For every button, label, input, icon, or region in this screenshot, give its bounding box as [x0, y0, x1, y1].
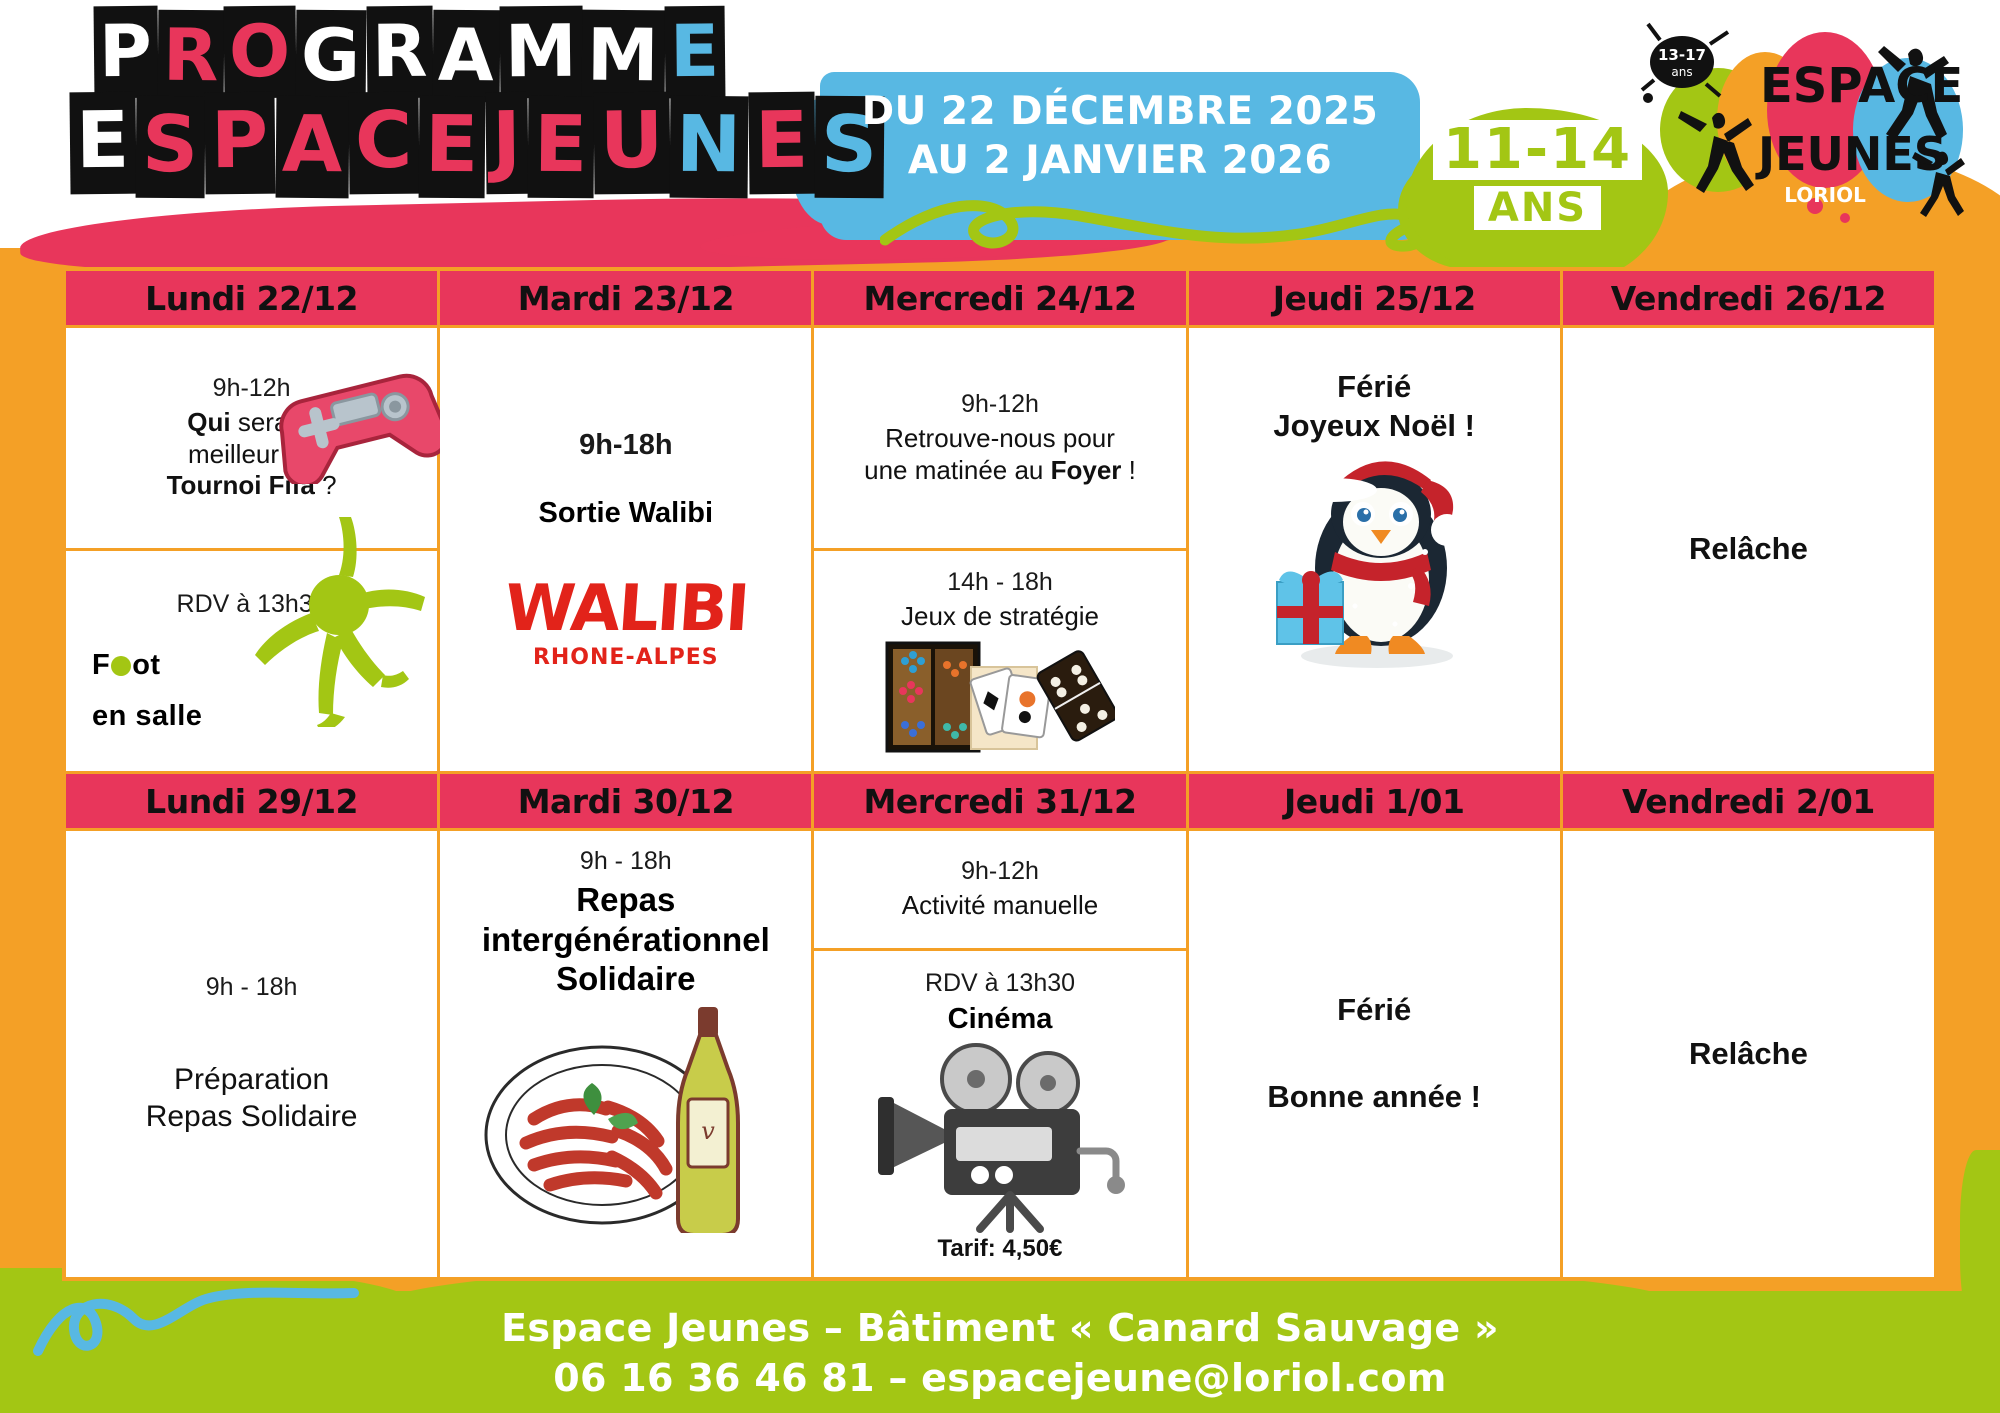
day-jeudi-1-01: Férié Bonne année !	[1189, 831, 1563, 1277]
slot-ferie-nouvel-an: Férié Bonne année !	[1189, 831, 1560, 1277]
title-letter: E	[69, 92, 136, 194]
slot-label-en-salle: en salle	[92, 700, 202, 733]
title-letter: P	[94, 6, 159, 99]
slot-title: Cinéma	[948, 1002, 1053, 1037]
header-jeudi-25-12: Jeudi 25/12	[1189, 271, 1563, 325]
week-1: Lundi 22/12 Mardi 23/12 Mercredi 24/12 J…	[66, 271, 1934, 774]
title-letter: M	[582, 10, 665, 103]
header-mardi-30-12: Mardi 30/12	[440, 774, 814, 828]
title-letter: R	[157, 10, 224, 103]
title-line-1: P R O G R A M M E	[94, 8, 770, 100]
slot-time: 9h - 18h	[206, 973, 298, 1002]
slot-tarif: Tarif: 4,50€	[938, 1235, 1063, 1263]
week-1-header-row: Lundi 22/12 Mardi 23/12 Mercredi 24/12 J…	[66, 271, 1934, 325]
date-line-2: AU 2 JANVIER 2026	[830, 137, 1410, 186]
logo-line-2: JEUNES	[1755, 127, 1947, 181]
title-letter: G	[296, 10, 367, 103]
slot-cinema: RDV à 13h30 Cinéma	[814, 951, 1185, 1277]
slot-title: Activité manuelle	[902, 890, 1099, 922]
slot-sortie-walibi: 9h-18h Sortie Walibi WALIBI RHONE-ALPES	[440, 328, 811, 771]
slot-time: RDV à 13h30	[925, 969, 1075, 998]
slot-time: 9h-12h	[961, 857, 1039, 886]
age-badge: 11-14 ANS	[1430, 120, 1645, 230]
slot-preparation-repas: 9h - 18h Préparation Repas Solidaire	[66, 831, 437, 1277]
slot-time: 9h-18h	[579, 429, 672, 462]
movie-camera-icon	[860, 1043, 1140, 1233]
title-line-2: E S P A C E J E U N E S	[70, 94, 770, 196]
program-table: Lundi 22/12 Mardi 23/12 Mercredi 24/12 J…	[62, 267, 1938, 1281]
walibi-subtitle: RHONE-ALPES	[505, 645, 747, 670]
slot-title-line-3: Solidaire	[556, 959, 695, 999]
slot-relache-26-12: Relâche	[1563, 328, 1934, 771]
day-vendredi-26-12: Relâche	[1563, 328, 1934, 771]
green-squiggle-icon	[880, 190, 1500, 260]
desc-line-1: Retrouve-nous pour	[864, 423, 1136, 455]
slot-time: 14h - 18h	[947, 568, 1053, 597]
title-letter: S	[136, 96, 206, 198]
meal-plate-olive-oil-icon: v	[476, 1003, 776, 1233]
day-mercredi-31-12: 9h-12h Activité manuelle RDV à 13h30 Cin…	[814, 831, 1188, 1277]
slot-repas-intergenerationnel: 9h - 18h Repas intergénérationnel Solida…	[440, 831, 811, 1277]
walibi-wordmark: WALIBI	[502, 577, 749, 641]
header-lundi-22-12: Lundi 22/12	[66, 271, 440, 325]
header-mercredi-24-12: Mercredi 24/12	[814, 271, 1188, 325]
slot-indoor-football: RDV à 13h30 Fot en salle	[66, 551, 437, 771]
footer-contact: Espace Jeunes – Bâtiment « Canard Sauvag…	[0, 1304, 2000, 1403]
header-lundi-29-12: Lundi 29/12	[66, 774, 440, 828]
day-mardi-30-12: 9h - 18h Repas intergénérationnel Solida…	[440, 831, 814, 1277]
logo-city: LORIOL	[1784, 183, 1866, 207]
slot-time: 9h - 18h	[580, 847, 672, 876]
slot-title-line-1: Férié	[1337, 991, 1411, 1030]
slot-title: Relâche	[1689, 530, 1808, 569]
header-mercredi-31-12: Mercredi 31/12	[814, 774, 1188, 828]
footballer-silhouette-icon	[243, 517, 433, 727]
desc-line-2-pre: une matinée au	[864, 455, 1050, 485]
slot-label-foot: Fot	[92, 649, 202, 682]
slot-time: 9h-12h	[961, 390, 1039, 419]
slot-text-line-2: Repas Solidaire	[146, 1099, 358, 1136]
desc-bold-qui: Qui	[187, 407, 230, 437]
svg-text:v: v	[701, 1117, 715, 1145]
slot-title-line-1: Férié	[1337, 368, 1411, 407]
title-letter: J	[485, 92, 528, 194]
slot-title-line-2: Bonne année !	[1267, 1078, 1481, 1117]
slot-title-line-2: intergénérationnel	[482, 920, 770, 960]
day-lundi-22-12: 9h-12h Qui sera le meilleur au Tournoi F…	[66, 328, 440, 771]
header-mardi-23-12: Mardi 23/12	[440, 271, 814, 325]
christmas-penguin-icon	[1259, 456, 1489, 671]
slot-title: Relâche	[1689, 1035, 1808, 1074]
walibi-logo-icon: WALIBI RHONE-ALPES	[505, 577, 747, 670]
desc-line-2-post: !	[1121, 455, 1135, 485]
logo-line-1: ESPACE	[1760, 58, 1963, 114]
day-jeudi-25-12: Férié Joyeux Noël !	[1189, 328, 1563, 771]
title-letter: E	[419, 96, 486, 198]
slot-description: Retrouve-nous pour une matinée au Foyer …	[864, 423, 1136, 486]
title-letter: U	[593, 92, 670, 195]
week-2-body-row: 9h - 18h Préparation Repas Solidaire 9h …	[66, 828, 1934, 1277]
espace-jeunes-logo: 13-17 ans ESPACE JEUNES LORIOL	[1640, 10, 1990, 235]
game-controller-icon	[273, 354, 443, 484]
week-1-body-row: 9h-12h Qui sera le meilleur au Tournoi F…	[66, 325, 1934, 774]
week-2: Lundi 29/12 Mardi 30/12 Mercredi 31/12 J…	[66, 774, 1934, 1277]
board-games-icon	[885, 639, 1115, 754]
footer-line-2: 06 16 36 46 81 – espacejeune@loriol.com	[0, 1354, 2000, 1403]
slot-text-line-1: Préparation	[174, 1062, 329, 1099]
header-jeudi-1-01: Jeudi 1/01	[1189, 774, 1563, 828]
title-letter: E	[748, 92, 815, 194]
day-mercredi-24-12: 9h-12h Retrouve-nous pour une matinée au…	[814, 328, 1188, 771]
slot-relache-2-01: Relâche	[1563, 831, 1934, 1277]
title-letter: P	[205, 92, 276, 194]
title-letter: A	[433, 10, 501, 103]
slot-activite-manuelle: 9h-12h Activité manuelle	[814, 831, 1185, 951]
title-letter: A	[275, 96, 349, 198]
title-letter: N	[670, 96, 749, 198]
slot-title: Jeux de stratégie	[901, 601, 1099, 633]
age-badge-unit: ANS	[1474, 186, 1601, 230]
header-vendredi-2-01: Vendredi 2/01	[1563, 774, 1934, 828]
date-range-banner: DU 22 DÉCEMBRE 2025 AU 2 JANVIER 2026	[830, 88, 1410, 186]
footer-line-1: Espace Jeunes – Bâtiment « Canard Sauvag…	[0, 1304, 2000, 1353]
title-letter: E	[527, 96, 594, 198]
desc-bold-foyer: Foyer	[1051, 455, 1122, 485]
title-letter: M	[499, 6, 583, 99]
title-letter: R	[366, 6, 433, 99]
slot-ferie-noel: Férié Joyeux Noël !	[1189, 328, 1560, 771]
slot-jeux-strategie: 14h - 18h Jeux de stratégie	[814, 551, 1185, 771]
day-vendredi-2-01: Relâche	[1563, 831, 1934, 1277]
week-2-header-row: Lundi 29/12 Mardi 30/12 Mercredi 31/12 J…	[66, 774, 1934, 828]
age-badge-range: 11-14	[1433, 120, 1642, 180]
svg-text:13-17: 13-17	[1658, 46, 1706, 64]
day-mardi-23-12: 9h-18h Sortie Walibi WALIBI RHONE-ALPES	[440, 328, 814, 771]
svg-text:ans: ans	[1671, 65, 1692, 79]
slot-title-line-1: Repas	[576, 880, 675, 920]
slot-title-line-2: Joyeux Noël !	[1273, 407, 1475, 446]
title-letter: O	[224, 6, 297, 99]
football-dot-icon	[111, 656, 131, 676]
date-line-1: DU 22 DÉCEMBRE 2025	[830, 88, 1410, 137]
slot-title: Sortie Walibi	[539, 496, 714, 531]
title-letter: C	[349, 92, 420, 194]
header-vendredi-26-12: Vendredi 26/12	[1563, 271, 1934, 325]
poster-title: P R O G R A M M E E S P A C E J E U N E …	[70, 8, 770, 196]
title-letter: E	[665, 6, 726, 99]
slot-matinee-foyer: 9h-12h Retrouve-nous pour une matinée au…	[814, 328, 1185, 551]
day-lundi-29-12: 9h - 18h Préparation Repas Solidaire	[66, 831, 440, 1277]
